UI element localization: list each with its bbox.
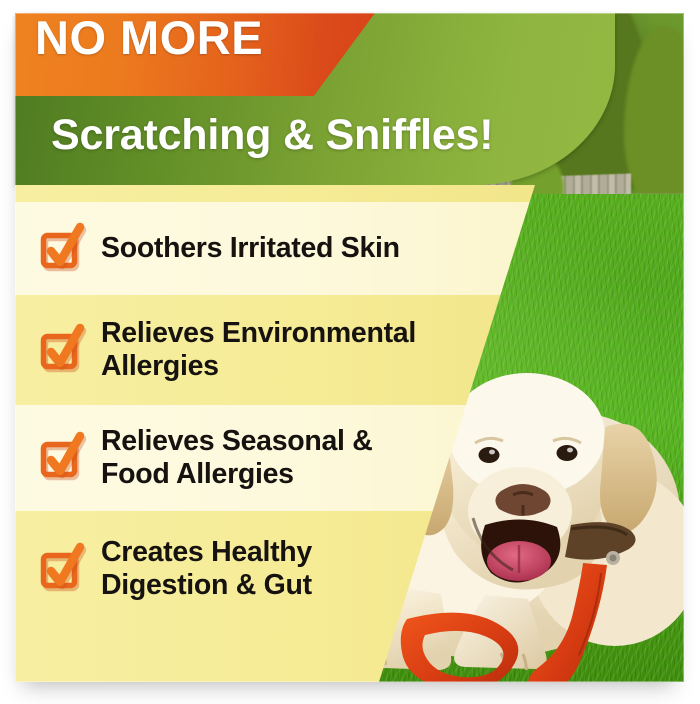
checkbox-checked-icon <box>39 326 83 370</box>
product-infographic: Scratching & Sniffles! NO MORE Soothers … <box>0 0 700 704</box>
benefit-label: Relieves Seasonal & Food Allergies <box>101 425 373 491</box>
headline: Scratching & Sniffles! <box>51 114 493 157</box>
eyebrow-label: NO MORE <box>35 14 263 61</box>
benefit-label: Soothers Irritated Skin <box>101 232 400 265</box>
benefit-label: Creates Healthy Digestion & Gut <box>101 536 312 602</box>
benefit-label: Relieves Environmental Allergies <box>101 317 416 383</box>
checkbox-checked-icon <box>39 434 83 478</box>
checkbox-checked-icon <box>39 545 83 589</box>
benefit-item-1: Soothers Irritated Skin <box>15 202 535 295</box>
checkbox-checked-icon <box>39 225 83 269</box>
benefit-item-2: Relieves Environmental Allergies <box>15 295 535 405</box>
panel-spacer <box>15 185 535 202</box>
